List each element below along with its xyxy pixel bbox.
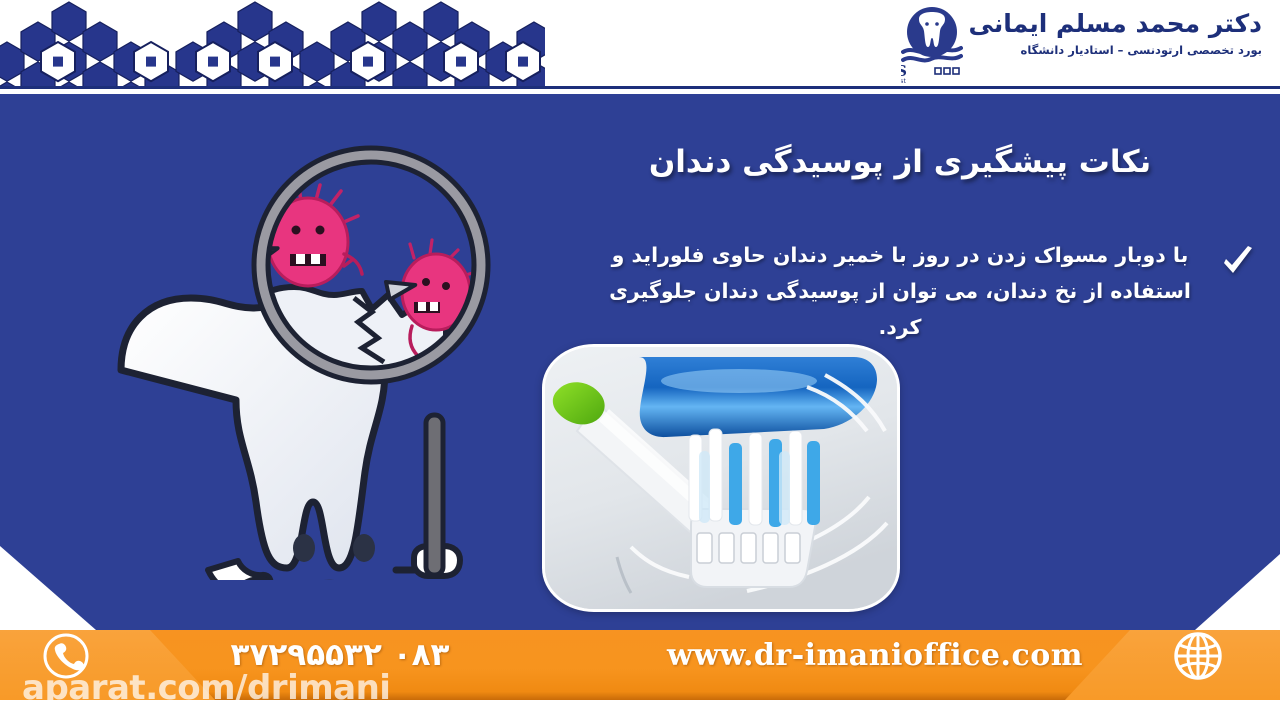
tip-text: با دوبار مسواک زدن در روز با خمیر دندان … [590,238,1210,346]
sad-tooth-with-magnifier-and-bacteria [96,130,536,580]
checkmark-icon [1221,246,1255,280]
doctor-subtitle: بورد تخصصی ارتودنسی – استادیار دانشگاه [969,43,1262,57]
doctor-name: دکتر محمد مسلم ایمانی [969,10,1262,39]
brand-block: DDS Orthodontics Specialist دکتر محمد مس… [901,6,1262,84]
phone-number[interactable]: ۰۸۳ ۳۷۲۹۵۵۳۲ [150,637,530,673]
header-bar: DDS Orthodontics Specialist دکتر محمد مس… [0,0,1280,90]
brand-text: دکتر محمد مسلم ایمانی بورد تخصصی ارتودنس… [969,6,1262,57]
tip-block: با دوبار مسواک زدن در روز با خمیر دندان … [590,238,1210,346]
phone-icon[interactable] [42,632,90,680]
footer-bottom-edge [0,700,1280,704]
tooth-logo-icon: DDS Orthodontics Specialist [901,6,963,84]
website-url[interactable]: www.dr-imanioffice.com [625,638,1125,673]
svg-text:Orthodontics Specialist: Orthodontics Specialist [901,77,906,84]
toothbrush-and-dental-floss-photo [542,344,900,612]
header-gap [0,89,1280,94]
hexagon-honeycomb-pattern [0,0,545,88]
globe-icon[interactable] [1172,630,1224,682]
page-title: نکات پیشگیری از پوسیدگی دندان [590,142,1210,182]
slide-canvas: DDS Orthodontics Specialist دکتر محمد مس… [0,0,1280,720]
